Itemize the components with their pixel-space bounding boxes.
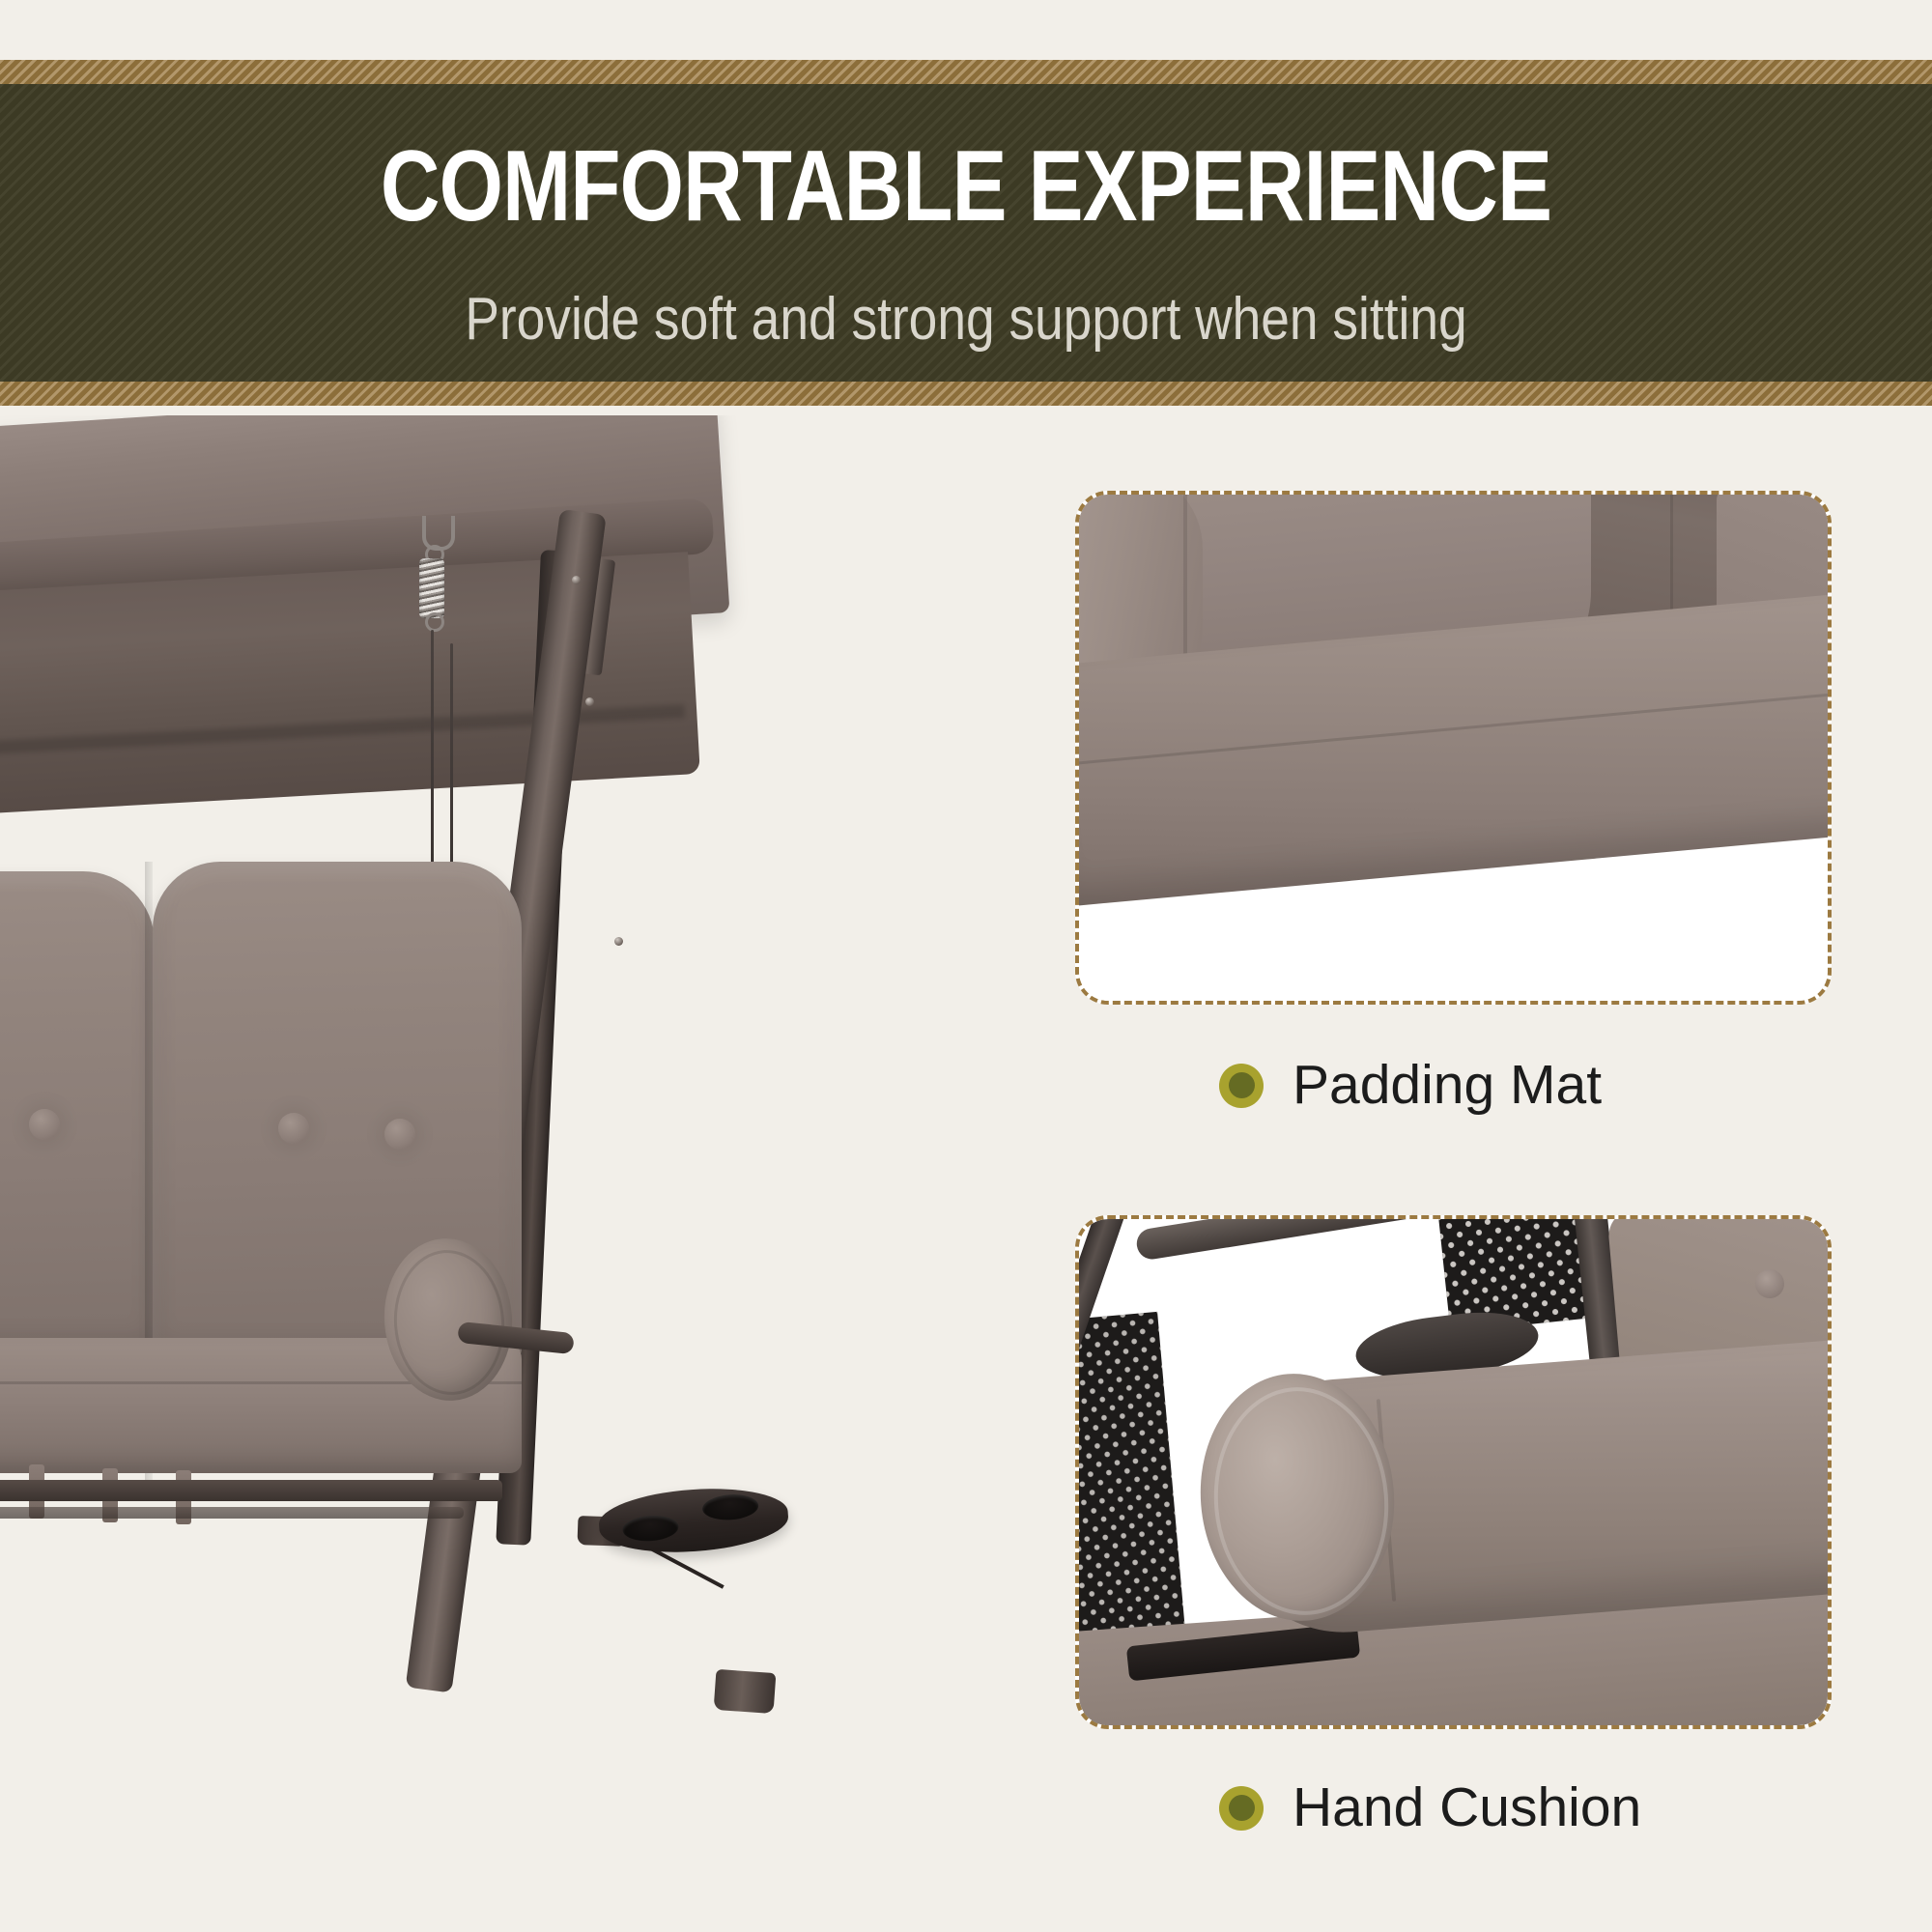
- cushion-button: [29, 1109, 60, 1140]
- page-subtitle: Provide soft and strong support when sit…: [135, 288, 1797, 351]
- cup-holder-recess: [622, 1514, 680, 1543]
- post-rivet: [572, 576, 581, 584]
- front-post-foot: [714, 1669, 777, 1714]
- bullet-icon: [1219, 1786, 1264, 1831]
- feature-image-hand-cushion: [1075, 1215, 1832, 1729]
- hand-cushion-scene: [1079, 1219, 1828, 1725]
- cushion-button: [278, 1113, 309, 1144]
- post-rivet: [585, 697, 594, 706]
- product-feature-page: COMFORTABLE EXPERIENCE Provide soft and …: [0, 0, 1932, 1932]
- cup-holder-tray: [597, 1483, 790, 1558]
- bullet-core-icon: [1229, 1795, 1255, 1821]
- feature-label-padding-mat: Padding Mat: [1293, 1058, 1602, 1113]
- feature-label-hand-cushion: Hand Cushion: [1293, 1780, 1641, 1835]
- page-title: COMFORTABLE EXPERIENCE: [174, 135, 1758, 238]
- post-rivet: [614, 937, 623, 946]
- seat-frame-bar-lower: [0, 1507, 464, 1519]
- cushion-button: [384, 1119, 415, 1150]
- caption-padding-mat: Padding Mat: [1219, 1058, 1602, 1113]
- back-cushion-left: [0, 871, 155, 1354]
- tension-spring: [419, 558, 444, 618]
- bullet-icon: [1219, 1064, 1264, 1108]
- banner-top-stripe: [0, 60, 1932, 84]
- caption-hand-cushion: Hand Cushion: [1219, 1780, 1641, 1835]
- cup-holder-recess: [701, 1492, 759, 1521]
- cushion-button: [1755, 1269, 1784, 1298]
- banner-bottom-stripe: [0, 382, 1932, 406]
- seat-frame-bar: [0, 1480, 502, 1501]
- bullet-core-icon: [1229, 1072, 1255, 1098]
- spring-lower-eye: [425, 612, 444, 632]
- header-banner: COMFORTABLE EXPERIENCE Provide soft and …: [0, 60, 1932, 406]
- hero-product-image: [0, 415, 850, 1932]
- padding-mat-scene: [1079, 495, 1828, 1001]
- feature-image-padding-mat: [1075, 491, 1832, 1005]
